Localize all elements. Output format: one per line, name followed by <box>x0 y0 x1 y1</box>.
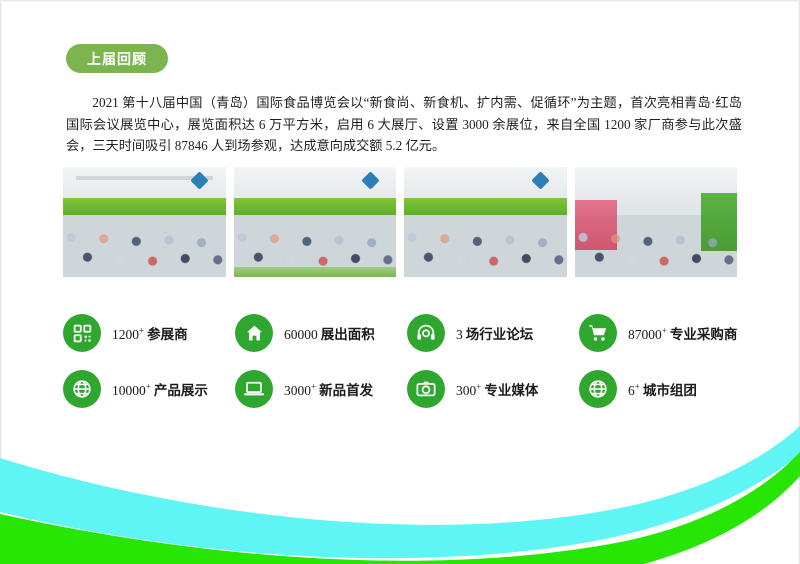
stats-row-1: 1200+参展商 60000展出面积 <box>63 305 753 361</box>
stat-professional-buyers: 87000+专业采购商 <box>579 305 751 361</box>
photo-strip <box>63 167 737 277</box>
page-edge-left <box>0 0 2 564</box>
stat-text: 新品首发 <box>319 383 373 398</box>
green-wave-band <box>0 452 800 564</box>
cyan-wave-band <box>0 426 800 558</box>
shopping-cart-icon <box>579 314 617 352</box>
photo-green-floor-rail <box>234 267 397 277</box>
stat-exhibition-area: 60000展出面积 <box>235 305 407 361</box>
photo-exhibition-aisle-booths <box>575 167 738 277</box>
stat-label: 3000+新品首发 <box>284 379 373 399</box>
stat-number: 87000 <box>628 327 662 342</box>
stat-text: 展出面积 <box>321 327 375 342</box>
stats-row-2: 10000+产品展示 3000+新品首发 <box>63 361 753 417</box>
stat-number: 3 <box>456 327 463 342</box>
bottom-wave-decoration <box>0 424 800 564</box>
home-icon <box>235 314 273 352</box>
stat-plus: + <box>146 382 151 392</box>
stat-professional-media: 300+专业媒体 <box>407 361 579 417</box>
stat-text: 城市组团 <box>643 383 697 398</box>
globe-icon <box>579 370 617 408</box>
stat-plus: + <box>662 326 667 336</box>
stat-label: 300+专业媒体 <box>456 379 538 399</box>
globe-icon <box>63 370 101 408</box>
stat-number: 60000 <box>284 327 318 342</box>
poster-page: 上届回顾 2021 第十八届中国（青岛）国际食品博览会以“新食尚、新食机、扩内需… <box>0 0 800 564</box>
stats-grid: 1200+参展商 60000展出面积 <box>63 305 753 417</box>
photo-visitors-walking-crowd <box>404 167 567 277</box>
stat-text: 产品展示 <box>154 383 208 398</box>
photo-entrance-queue-crowd <box>234 167 397 277</box>
photo-crowd-detail <box>404 211 567 277</box>
stat-city-delegations: 6+城市组团 <box>579 361 751 417</box>
stat-product-displays: 10000+产品展示 <box>63 361 235 417</box>
stat-new-product-launches: 3000+新品首发 <box>235 361 407 417</box>
stat-plus: + <box>476 382 481 392</box>
stat-industry-forums: 3场行业论坛 <box>407 305 579 361</box>
stat-text: 专业采购商 <box>670 327 738 342</box>
stat-plus: + <box>635 382 640 392</box>
stat-number: 6 <box>628 383 635 398</box>
stat-number: 3000 <box>284 383 311 398</box>
stat-number: 10000 <box>112 383 146 398</box>
headset-icon <box>407 314 445 352</box>
stat-exhibitors: 1200+参展商 <box>63 305 235 361</box>
stat-number: 300 <box>456 383 476 398</box>
stat-text: 专业媒体 <box>484 383 538 398</box>
page-edge-top <box>0 0 800 2</box>
stat-label: 87000+专业采购商 <box>628 323 737 343</box>
photo-crowd-detail <box>63 211 226 277</box>
section-badge: 上届回顾 <box>66 44 168 73</box>
stat-label: 60000展出面积 <box>284 323 375 343</box>
photo-crowd-detail <box>575 211 738 277</box>
intro-paragraph: 2021 第十八届中国（青岛）国际食品博览会以“新食尚、新食机、扩内需、促循环”… <box>66 92 742 157</box>
stat-label: 6+城市组团 <box>628 379 697 399</box>
stat-number: 1200 <box>112 327 139 342</box>
stat-label: 10000+产品展示 <box>112 379 208 399</box>
stat-label: 1200+参展商 <box>112 323 188 343</box>
stat-label: 3场行业论坛 <box>456 323 533 343</box>
stat-plus: + <box>311 382 316 392</box>
laptop-icon <box>235 370 273 408</box>
stat-text: 场行业论坛 <box>466 327 534 342</box>
camera-icon <box>407 370 445 408</box>
stat-plus: + <box>139 326 144 336</box>
stat-text: 参展商 <box>147 327 188 342</box>
section-badge-label: 上届回顾 <box>87 49 147 69</box>
photo-registration-hall-crowd <box>63 167 226 277</box>
qr-grid-icon <box>63 314 101 352</box>
